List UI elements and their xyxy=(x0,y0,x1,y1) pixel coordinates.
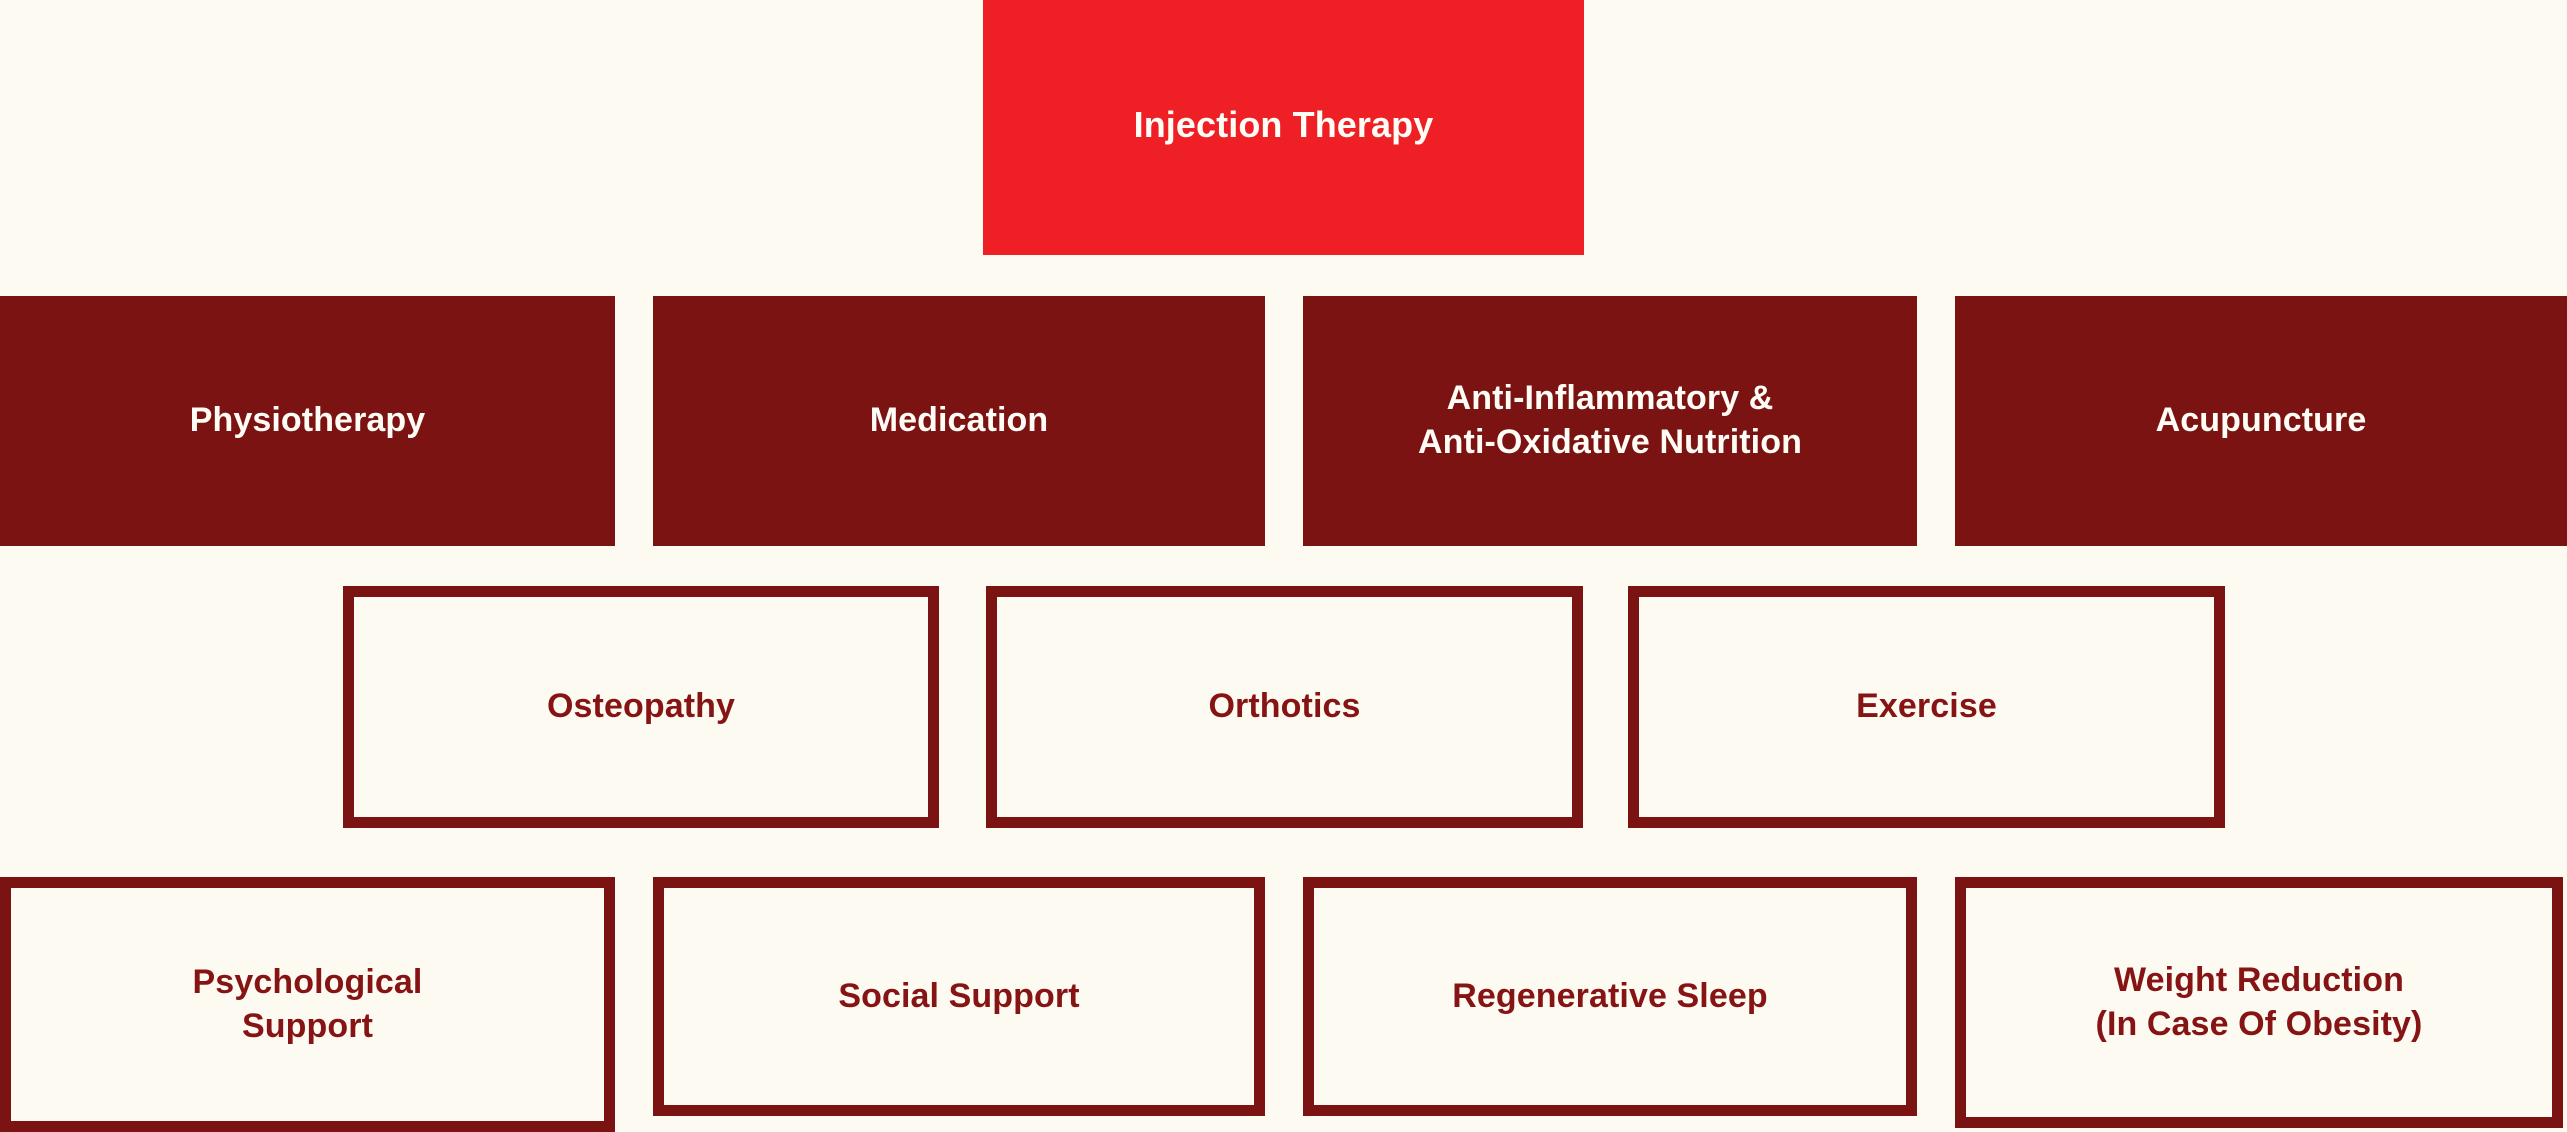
node-label: Physiotherapy xyxy=(190,399,426,443)
node-label: Regenerative Sleep xyxy=(1452,975,1768,1019)
node-label: Acupuncture xyxy=(2156,399,2367,443)
node-label: Osteopathy xyxy=(547,685,735,729)
node-acupuncture[interactable]: Acupuncture xyxy=(1955,296,2567,546)
node-label: Injection Therapy xyxy=(1134,102,1434,148)
node-label: Medication xyxy=(870,399,1049,443)
node-label: Weight Reduction (In Case Of Obesity) xyxy=(2096,959,2423,1046)
node-injection-therapy[interactable]: Injection Therapy xyxy=(983,0,1584,255)
node-medication[interactable]: Medication xyxy=(653,296,1265,546)
node-label: Exercise xyxy=(1856,685,1997,729)
node-label: Social Support xyxy=(838,975,1079,1019)
node-social-support[interactable]: Social Support xyxy=(653,877,1265,1116)
node-orthotics[interactable]: Orthotics xyxy=(986,586,1583,828)
node-osteopathy[interactable]: Osteopathy xyxy=(343,586,939,828)
treatment-options-diagram: Injection Therapy Physiotherapy Medicati… xyxy=(0,0,2567,1128)
node-label: Orthotics xyxy=(1208,685,1360,729)
node-regenerative-sleep[interactable]: Regenerative Sleep xyxy=(1303,877,1917,1116)
node-anti-inflammatory-nutrition[interactable]: Anti-Inflammatory & Anti-Oxidative Nutri… xyxy=(1303,296,1917,546)
node-label: Anti-Inflammatory & Anti-Oxidative Nutri… xyxy=(1418,377,1802,464)
node-label: Psychological Support xyxy=(193,961,423,1048)
node-exercise[interactable]: Exercise xyxy=(1628,586,2225,828)
node-psychological-support[interactable]: Psychological Support xyxy=(0,877,615,1132)
node-weight-reduction[interactable]: Weight Reduction (In Case Of Obesity) xyxy=(1955,877,2563,1128)
node-physiotherapy[interactable]: Physiotherapy xyxy=(0,296,615,546)
